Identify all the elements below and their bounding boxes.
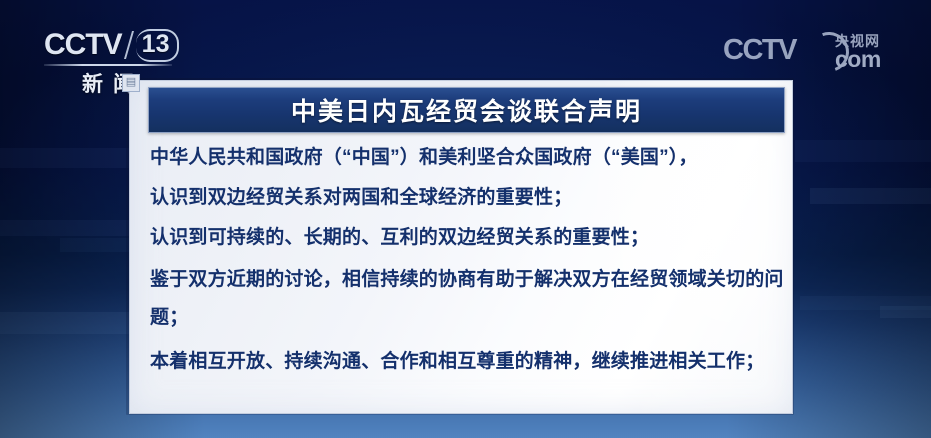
logo-underline <box>44 64 172 66</box>
statement-paragraph: 中华人民共和国政府（“中国”）和美利坚合众国政府（“美国”）， <box>150 139 786 177</box>
statement-paragraph: 鉴于双方近期的讨论，相信持续的协商有助于解决双方在经贸领域关切的问题； <box>150 261 786 337</box>
channel-logo-row: CCTV 13 <box>44 28 194 62</box>
statement-paragraph: 认识到双边经贸关系对两国和全球经济的重要性； <box>150 179 786 217</box>
cctv-wordmark: CCTV <box>44 30 122 60</box>
statement-paragraph: 认识到可持续的、长期的、互利的双边经贸关系的重要性； <box>150 219 786 257</box>
channel-number-badge: 13 <box>136 29 180 62</box>
watermark-domain-text: com <box>835 48 881 71</box>
logo-slash-icon <box>124 31 134 59</box>
cctv-com-watermark: CCTV 央视网 com <box>723 30 903 80</box>
page-title: 中美日内瓦经贸会谈联合声明 <box>291 92 642 128</box>
panel-corner-glyph-icon: ▤ <box>122 74 140 92</box>
statement-paragraph: 本着相互开放、持续沟通、合作和相互尊重的精神，继续推进相关工作； <box>150 343 786 381</box>
watermark-cctv-text: CCTV <box>723 36 796 65</box>
broadcast-screen: CCTV 13 新闻 CCTV 央视网 com ▤ 中美日内瓦经贸会谈联合声明 … <box>0 0 931 438</box>
statement-body: 中华人民共和国政府（“中国”）和美利坚合众国政府（“美国”）， 认识到双边经贸关… <box>150 139 786 381</box>
statement-title-bar: 中美日内瓦经贸会谈联合声明 <box>148 87 785 133</box>
